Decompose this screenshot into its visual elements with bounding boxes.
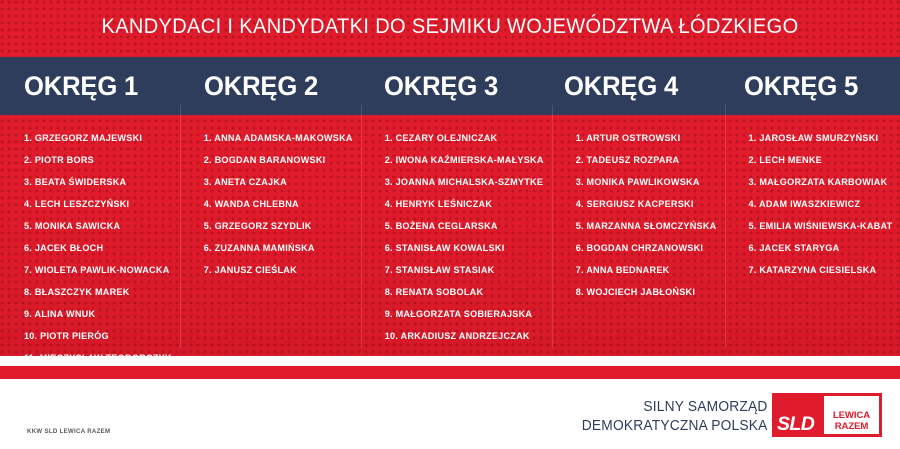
list-item: 2. BOGDAN BARANOWSKI <box>204 155 353 166</box>
list-item: 5. EMILIA WIŚNIEWSKA-KABAT <box>749 221 893 232</box>
district-heading-label: OKRĘG 4 <box>564 71 678 101</box>
list-item: 3. MAŁGORZATA KARBOWIAK <box>749 177 893 188</box>
list-item: 6. ZUZANNA MAMIŃSKA <box>204 243 353 254</box>
list-item: 7. WIOLETA PAWLIK-NOWACKA <box>24 265 172 276</box>
logo-sld-mark: SLD <box>777 414 814 434</box>
list-item: 10. ARKADIUSZ ANDRZEJCZAK <box>385 331 544 342</box>
list-item: 4. ADAM IWASZKIEWICZ <box>749 199 893 210</box>
list-item: 8. BŁASZCZYK MAREK <box>24 287 172 298</box>
list-item: 4. LECH LESZCZYŃSKI <box>24 199 172 210</box>
list-item: 2. LECH MENKE <box>749 155 893 166</box>
slogan-line-2: DEMOKRATYCZNA POLSKA <box>581 417 767 436</box>
list-item: 1. JAROSŁAW SMURZYŃSKI <box>749 133 893 144</box>
list-item: 5. MONIKA SAWICKA <box>24 221 172 232</box>
district-heading-label: OKRĘG 5 <box>744 71 858 101</box>
list-item: 7. STANISŁAW STASIAK <box>385 265 544 276</box>
campaign-slogan: SILNY SAMORZĄD DEMOKRATYCZNA POLSKA <box>581 398 767 435</box>
list-item: 9. ALINA WNUK <box>24 309 172 320</box>
list-item: 8. WOJCIECH JABŁOŃSKI <box>576 287 717 298</box>
district-headings-row: OKRĘG 1 OKRĘG 2 OKRĘG 3 OKRĘG 4 OKRĘG 5 <box>0 57 900 115</box>
candidate-column-3: 1. CEZARY OLEJNICZAK 2. IWONA KAŹMIERSKA… <box>361 115 552 356</box>
sld-lewica-razem-logo: SLD LEWICA RAZEM <box>772 393 882 437</box>
district-heading-4: OKRĘG 4 <box>540 57 720 115</box>
red-accent-strip <box>0 366 900 379</box>
list-item: 9. MAŁGORZATA SOBIERAJSKA <box>385 309 544 320</box>
list-item: 4. WANDA CHLEBNA <box>204 199 353 210</box>
list-item: 10. PIOTR PIERÓG <box>24 331 172 342</box>
list-item: 6. STANISŁAW KOWALSKI <box>385 243 544 254</box>
list-item: 2. PIOTR BORS <box>24 155 172 166</box>
list-item: 5. BOŻENA CEGLARSKA <box>385 221 544 232</box>
list-item: 4. SERGIUSZ KACPERSKI <box>576 199 717 210</box>
district-headings-bar: OKRĘG 1 OKRĘG 2 OKRĘG 3 OKRĘG 4 OKRĘG 5 <box>0 57 900 115</box>
list-item: 7. KATARZYNA CIESIELSKA <box>749 265 893 276</box>
list-item: 3. MONIKA PAWLIKOWSKA <box>576 177 717 188</box>
list-item: 7. JANUSZ CIEŚLAK <box>204 265 353 276</box>
list-item: 8. RENATA SOBOLAK <box>385 287 544 298</box>
candidate-column-2: 1. ANNA ADAMSKA-MAKOWSKA 2. BOGDAN BARAN… <box>180 115 361 356</box>
list-item: 3. ANETA CZAJKA <box>204 177 353 188</box>
committee-label: KKW SLD LEWICA RAZEM <box>27 428 110 435</box>
logo-lewica-text: LEWICA <box>824 410 879 421</box>
list-item: 1. ARTUR OSTROWSKI <box>576 133 717 144</box>
list-item: 5. GRZEGORZ SZYDLIK <box>204 221 353 232</box>
district-heading-label: OKRĘG 2 <box>204 71 318 101</box>
list-item: 2. IWONA KAŹMIERSKA-MAŁYSKA <box>385 155 544 166</box>
list-item: 1. GRZEGORZ MAJEWSKI <box>24 133 172 144</box>
list-item: 3. JOANNA MICHALSKA-SZMYTKE <box>385 177 544 188</box>
list-item: 6. JACEK STARYGA <box>749 243 893 254</box>
poster-canvas: KANDYDACI I KANDYDATKI DO SEJMIKU WOJEWÓ… <box>0 0 900 449</box>
list-item: 6. BOGDAN CHRZANOWSKI <box>576 243 717 254</box>
candidate-columns: 1. GRZEGORZ MAJEWSKI 2. PIOTR BORS 3. BE… <box>0 115 900 356</box>
list-item: 4. HENRYK LEŚNICZAK <box>385 199 544 210</box>
list-item: 6. JACEK BŁOCH <box>24 243 172 254</box>
district-heading-3: OKRĘG 3 <box>360 57 540 115</box>
page-title: KANDYDACI I KANDYDATKI DO SEJMIKU WOJEWÓ… <box>32 13 869 39</box>
district-heading-label: OKRĘG 1 <box>24 71 138 101</box>
logo-white-box: LEWICA RAZEM <box>824 396 879 434</box>
district-heading-1: OKRĘG 1 <box>0 57 180 115</box>
list-item: 1. CEZARY OLEJNICZAK <box>385 133 544 144</box>
candidate-column-1: 1. GRZEGORZ MAJEWSKI 2. PIOTR BORS 3. BE… <box>0 115 180 356</box>
district-heading-2: OKRĘG 2 <box>180 57 360 115</box>
district-heading-5: OKRĘG 5 <box>720 57 900 115</box>
candidate-column-4: 1. ARTUR OSTROWSKI 2. TADEUSZ ROZPARA 3.… <box>552 115 725 356</box>
list-item: 2. TADEUSZ ROZPARA <box>576 155 717 166</box>
slogan-line-1: SILNY SAMORZĄD <box>581 398 767 417</box>
logo-razem-text: RAZEM <box>824 421 879 432</box>
list-item: 3. BEATA ŚWIDERSKA <box>24 177 172 188</box>
candidate-column-5: 1. JAROSŁAW SMURZYŃSKI 2. LECH MENKE 3. … <box>725 115 900 356</box>
list-item: 7. ANNA BEDNAREK <box>576 265 717 276</box>
list-item: 11. MIECZYSŁAW TEODORCZYK <box>24 353 172 364</box>
list-item: 5. MARZANNA SŁOMCZYŃSKA <box>576 221 717 232</box>
list-item: 1. ANNA ADAMSKA-MAKOWSKA <box>204 133 353 144</box>
district-heading-label: OKRĘG 3 <box>384 71 498 101</box>
